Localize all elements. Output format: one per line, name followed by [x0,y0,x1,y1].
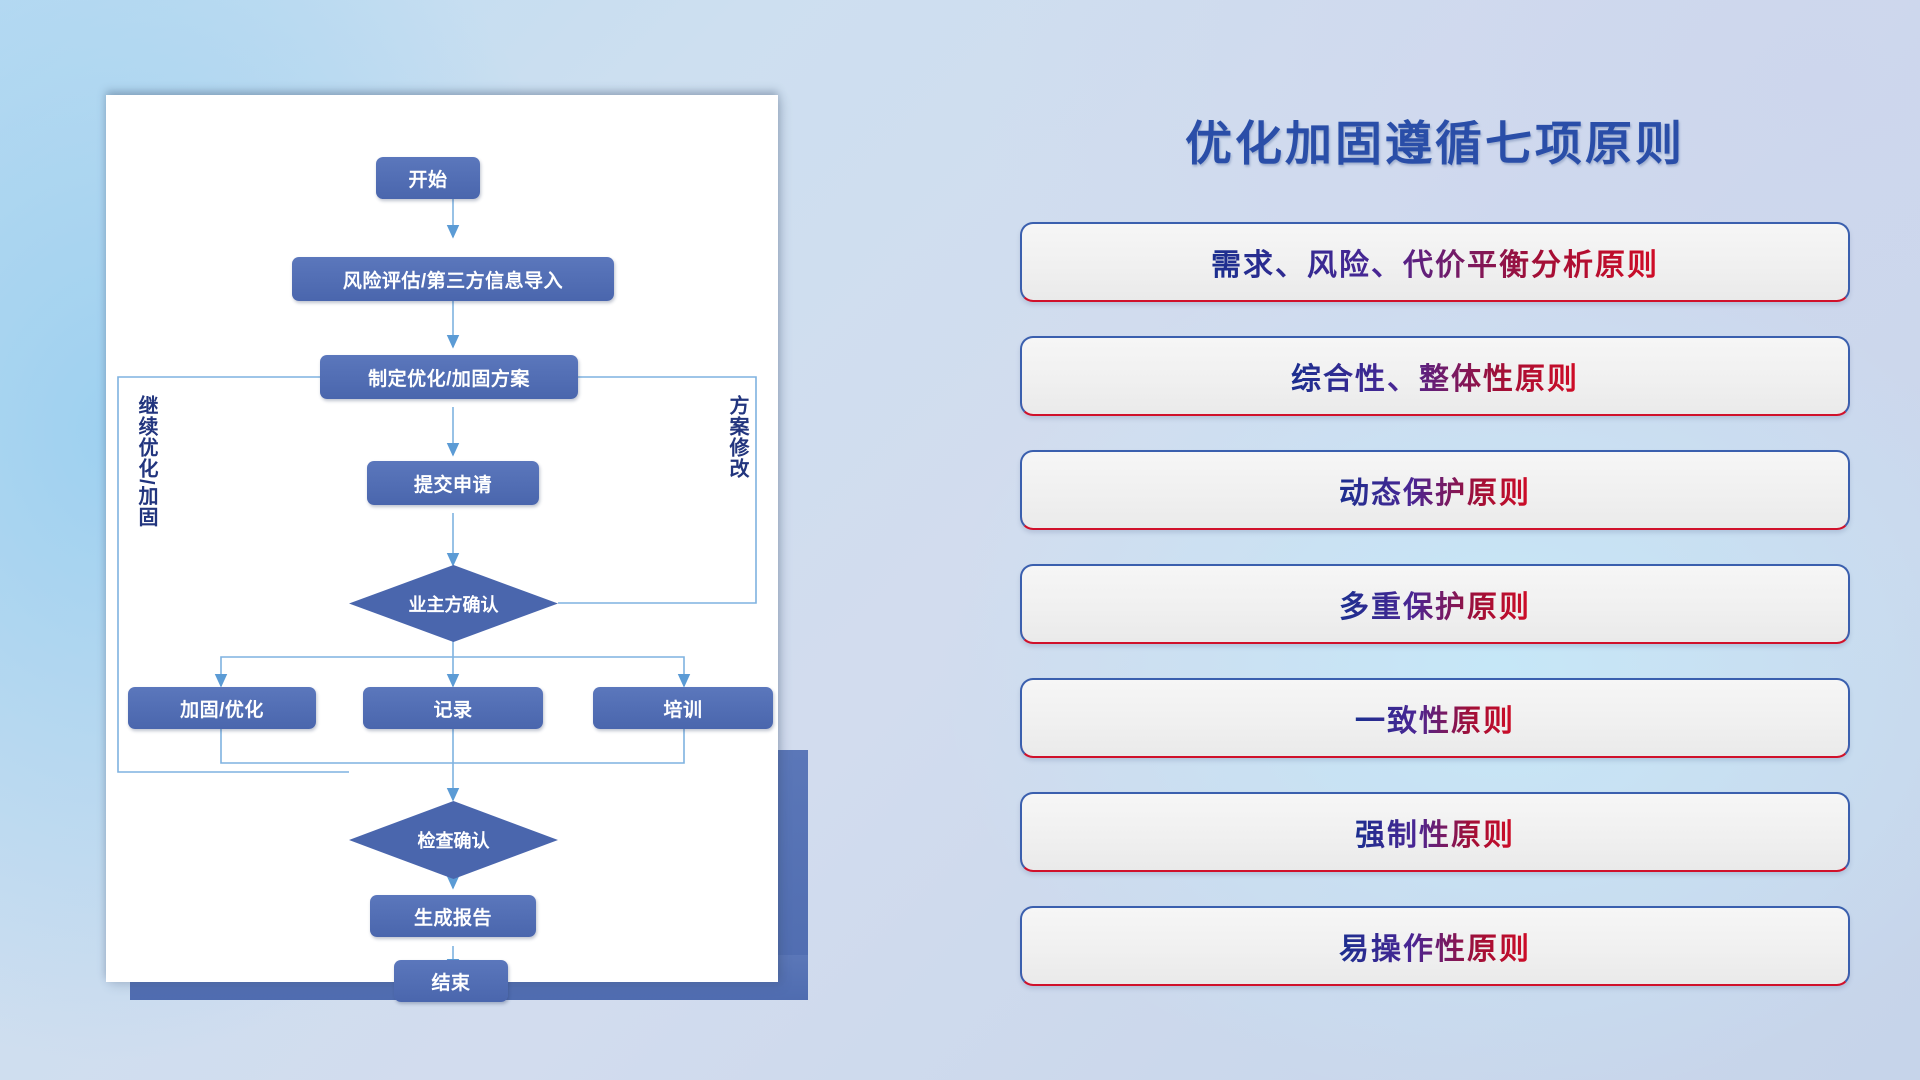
principle-item[interactable]: 综合性、整体性原则 [1020,336,1850,416]
principle-label: 易操作性原则 [1339,924,1531,968]
flow-node-label: 风险评估/第三方信息导入 [343,266,563,293]
flow-node-training[interactable]: 培训 [593,687,773,729]
principle-label: 强制性原则 [1355,810,1515,854]
principle-label: 需求、风险、代价平衡分析原则 [1211,240,1659,284]
flow-node-check-confirm[interactable]: 检查确认 [349,801,558,879]
panel-title: 优化加固遵循七项原则 [1020,105,1850,174]
principle-item[interactable]: 需求、风险、代价平衡分析原则 [1020,222,1850,302]
flow-node-generate-report[interactable]: 生成报告 [370,895,536,937]
flow-node-record[interactable]: 记录 [363,687,543,729]
flow-node-owner-confirm[interactable]: 业主方确认 [349,565,558,642]
principle-item[interactable]: 动态保护原则 [1020,450,1850,530]
flow-node-label: 培训 [663,695,702,722]
flow-node-make-plan[interactable]: 制定优化/加固方案 [320,355,578,399]
flowchart-card: 开始 风险评估/第三方信息导入 制定优化/加固方案 提交申请 业主方确认 加固/… [106,95,778,982]
flow-node-label: 开始 [408,165,447,192]
principle-item[interactable]: 一致性原则 [1020,678,1850,758]
flow-node-submit-application[interactable]: 提交申请 [367,461,539,505]
flow-node-label: 业主方确认 [409,591,499,617]
flow-node-label: 生成报告 [414,903,492,930]
flow-node-reinforce-optimize[interactable]: 加固/优化 [128,687,316,729]
principle-label: 一致性原则 [1355,696,1515,740]
flow-edge-label-plan-revision: 方案修改 [726,395,747,479]
principle-item[interactable]: 易操作性原则 [1020,906,1850,986]
flow-node-label: 结束 [431,968,470,995]
flow-node-start[interactable]: 开始 [376,157,480,199]
principle-label: 多重保护原则 [1339,582,1531,626]
flow-node-end[interactable]: 结束 [394,960,508,1002]
flow-node-label: 检查确认 [418,827,490,853]
flow-node-label: 加固/优化 [180,695,264,722]
principle-label: 动态保护原则 [1339,468,1531,512]
flow-edge-label-continue-optimize: 继续优化/加固 [135,395,156,528]
principles-panel: 优化加固遵循七项原则 需求、风险、代价平衡分析原则 综合性、整体性原则 动态保护… [1020,105,1850,1020]
principle-item[interactable]: 强制性原则 [1020,792,1850,872]
principle-item[interactable]: 多重保护原则 [1020,564,1850,644]
flow-node-label: 提交申请 [414,470,492,497]
flow-node-label: 记录 [433,695,472,722]
flow-node-risk-assessment[interactable]: 风险评估/第三方信息导入 [292,257,614,301]
principle-label: 综合性、整体性原则 [1291,354,1579,398]
flow-node-label: 制定优化/加固方案 [368,364,530,391]
